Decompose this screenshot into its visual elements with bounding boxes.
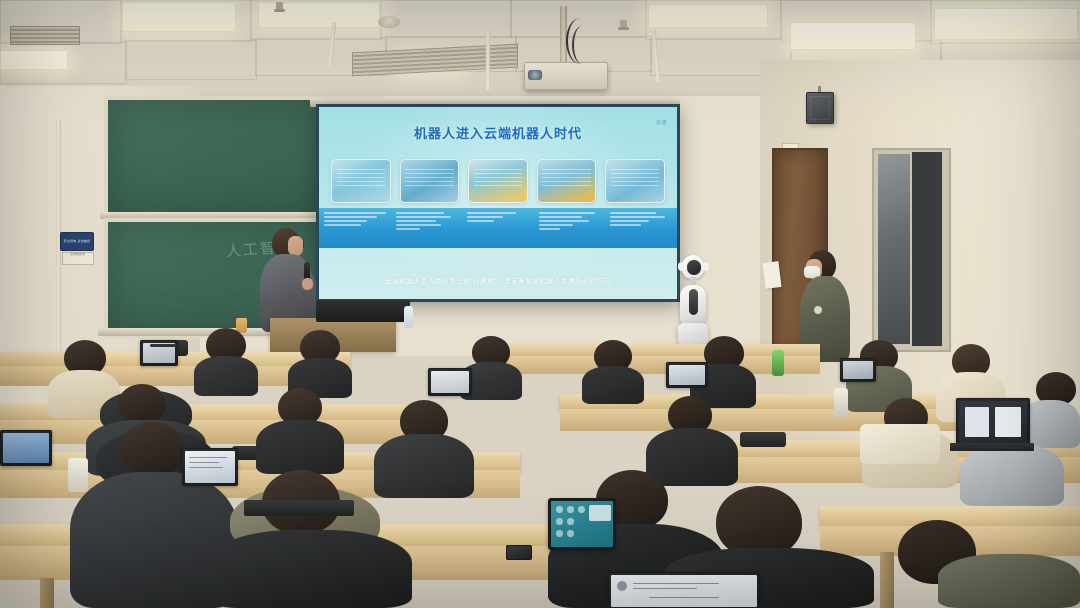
student-torso — [938, 554, 1080, 608]
tablet-widget — [589, 505, 611, 521]
sprinkler-head — [276, 2, 283, 11]
door-paper-notice — [762, 261, 781, 289]
panel-label-text: 配电箱编号 — [63, 253, 93, 257]
laptop[interactable] — [0, 430, 52, 466]
laptop-screen — [611, 575, 757, 607]
air-vent — [10, 26, 80, 45]
water-bottle — [404, 306, 413, 328]
robot-ear-right — [702, 262, 709, 271]
laptop-screen — [431, 371, 469, 393]
projector-lens — [528, 70, 542, 80]
student-torso — [208, 530, 412, 608]
presenter-face — [288, 236, 303, 256]
student-torso — [194, 356, 258, 396]
tablet[interactable] — [548, 498, 616, 550]
laptop-window-right — [995, 407, 1021, 437]
tablet-screen — [551, 501, 613, 547]
desk-leg — [880, 552, 894, 608]
slide-band-column — [319, 208, 391, 248]
pen — [150, 344, 176, 347]
slide-thumbnail-row — [331, 159, 665, 203]
ceiling-light — [648, 4, 768, 28]
desk-leg — [40, 578, 54, 608]
projector-cable — [572, 26, 592, 64]
slide-title: 机器人进入云端机器人时代 — [319, 123, 677, 142]
slide-thumbnail — [400, 159, 460, 203]
tote-bag — [860, 424, 940, 464]
laptop-window-left — [965, 407, 989, 437]
slide-band-column — [462, 208, 534, 248]
robot-face — [687, 260, 701, 275]
laptop-keyboard[interactable] — [950, 443, 1034, 451]
laptop[interactable] — [956, 398, 1030, 446]
slide-logo: 云迹 — [656, 119, 667, 126]
electrical-warning-sign: 安全用电 请勿触摸 — [60, 232, 94, 251]
attendee-badge — [814, 306, 822, 314]
ceiling-light — [0, 50, 68, 70]
student-torso — [374, 434, 474, 498]
slide-band-column — [391, 208, 463, 248]
student-torso — [256, 420, 344, 474]
robot-chest-panel — [689, 289, 698, 315]
student-torso — [646, 428, 738, 486]
slide-caption: 云端机器人是人类的第三台“计算机”，是未来智能机器人发展的必然方向 — [319, 275, 677, 285]
slide-thumbnail — [468, 159, 528, 203]
thermos-bottle — [68, 458, 88, 492]
sprinkler-head — [620, 20, 627, 29]
lectern-equipment — [316, 300, 410, 322]
robot-ear-left — [678, 262, 685, 271]
wall-speaker — [806, 92, 834, 124]
ceiling-light — [790, 22, 916, 50]
slide-thumbnail — [331, 159, 391, 203]
thermos-bottle — [834, 388, 848, 418]
ceiling-light — [934, 8, 1078, 40]
seat-back — [740, 432, 786, 447]
slide-text-band — [319, 208, 677, 248]
laptop[interactable] — [428, 368, 472, 396]
student-head — [118, 384, 166, 424]
ceiling-dome-light — [378, 16, 400, 28]
slide-thumbnail — [605, 159, 665, 203]
slide-band-column — [605, 208, 677, 248]
slide-thumbnail — [537, 159, 597, 203]
presenter — [258, 228, 316, 332]
laptop[interactable] — [182, 448, 238, 486]
slide-band-column — [534, 208, 606, 248]
service-robot — [676, 255, 710, 355]
window-dark-opening — [912, 152, 942, 346]
laptop[interactable] — [666, 362, 708, 388]
projection-screen: 机器人进入云端机器人时代 云迹 — [316, 104, 680, 302]
smartphone[interactable] — [506, 545, 532, 560]
desk-front-panel — [0, 420, 420, 444]
student-torso — [582, 366, 644, 404]
classroom-photo: 安全用电 请勿触摸 配电箱编号 人工智能 机器人进入云端机器人时代 云迹 — [0, 0, 1080, 608]
presenter-hand — [302, 278, 313, 290]
laptop[interactable] — [840, 358, 876, 382]
laptop-screen — [3, 433, 49, 463]
notebook-on-desk — [244, 500, 354, 516]
laptop-screen — [669, 365, 705, 385]
green-bottle — [772, 350, 784, 376]
window-glass — [878, 154, 910, 344]
slide: 机器人进入云端机器人时代 云迹 — [319, 107, 677, 299]
laptop[interactable] — [608, 572, 760, 608]
ceiling-light — [122, 2, 236, 32]
electrical-warning-sign-text: 安全用电 请勿触摸 — [64, 240, 91, 244]
student-head — [120, 422, 184, 476]
browser-favicon — [617, 581, 627, 591]
student-torso — [960, 444, 1064, 506]
panel-label-sign: 配电箱编号 — [62, 252, 94, 265]
laptop-screen — [843, 361, 873, 379]
